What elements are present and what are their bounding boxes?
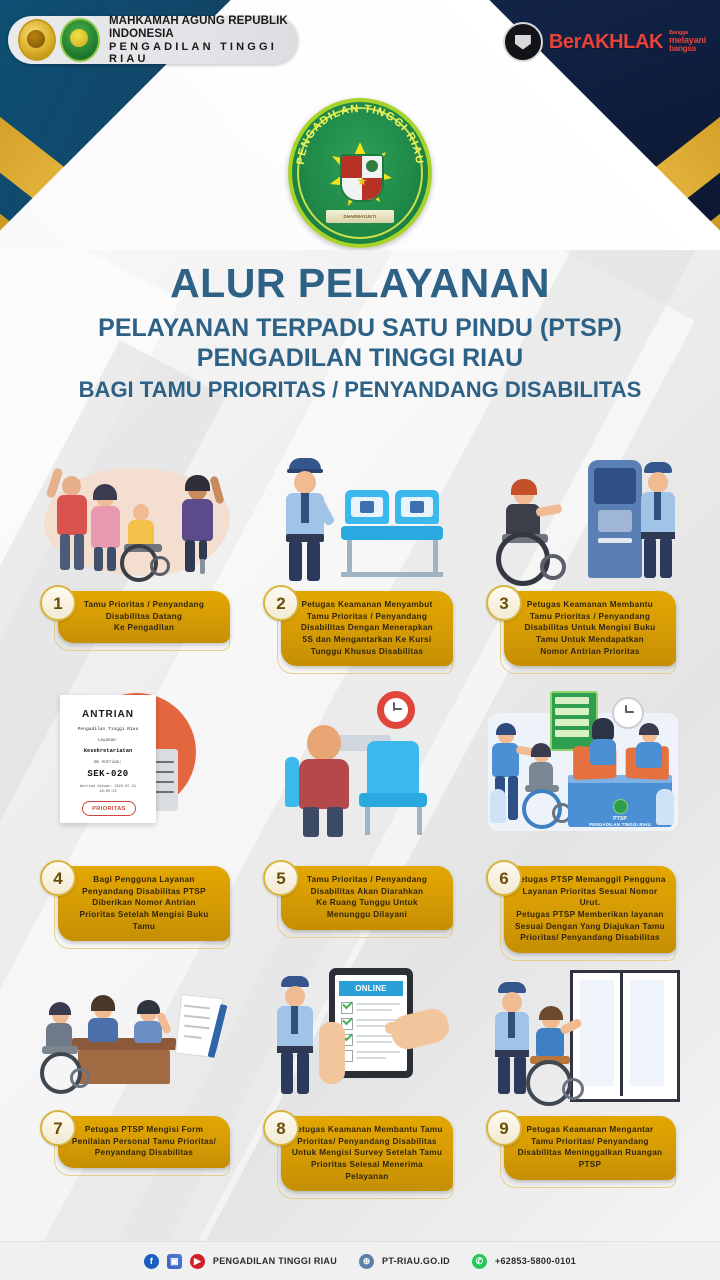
counter-emblem-icon [613,799,628,814]
step-card-5: 5 Tamu Prioritas / Penyandang Disabilita… [261,685,459,960]
step-7-illustration [38,960,236,1110]
bangga-melayani-bangsa-tagline: Bangga melayani bangsa [669,31,706,54]
ticket-created: Antrian dibuat: 2024-07-31 19:05:15 [60,785,156,796]
step-6-text: Petugas PTSP Memanggil Pengguna Layanan … [512,874,668,944]
step-1-text: Tamu Prioritas / Penyandang Disabilitas … [84,599,204,634]
step-4-illustration: ANTRIAN Pengadilan Tinggi Riau Layanan: … [38,685,236,860]
step-8-number: 8 [276,1120,285,1137]
step-1-illustration [38,440,236,585]
step-card-4: ANTRIAN Pengadilan Tinggi Riau Layanan: … [38,685,236,960]
social-handle: PENGADILAN TINGGI RIAU [213,1256,337,1266]
step-8-caption: 8 Petugas Keamanan Membantu Tamu Priorit… [267,1116,453,1191]
office-clock-icon [612,697,644,729]
step-8-text: Petugas Keamanan Membantu Tamu Prioritas… [291,1124,442,1182]
step-6-caption: 6 Petugas PTSP Memanggil Pengguna Layana… [490,866,676,953]
step-9-number: 9 [499,1120,508,1137]
step-card-6: PTSP PENGADILAN TINGGI RIAU [484,685,682,960]
website-url[interactable]: PT-RIAU.GO.ID [382,1256,450,1266]
instagram-icon[interactable]: ▣ [167,1254,182,1269]
steps-row-1: 1 Tamu Prioritas / Penyandang Disabilita… [0,440,720,685]
ticket-service-label: Layanan: [60,739,156,743]
step-5-text: Tamu Prioritas / Penyandang Disabilitas … [307,874,427,921]
step-5-illustration [261,685,459,860]
step-card-1: 1 Tamu Prioritas / Penyandang Disabilita… [38,440,236,685]
berakhlak-badge: BerAKHLAK Bangga melayani bangsa [503,22,706,62]
step-7-caption: 7 Petugas PTSP Mengisi Form Penilaian Pe… [44,1116,230,1168]
ticket-service-value: Kesekretariatan [60,748,156,754]
step-3-text: Petugas Keamanan Membantu Tamu Prioritas… [525,599,656,657]
emblem-shield-icon [340,154,384,202]
poster-header: MAHKAMAH AGUNG REPUBLIK INDONESIA PENGAD… [0,0,720,250]
title-sub-1: PELAYANAN TERPADU SATU PINDU (PTSP) [0,314,720,344]
step-card-3: 3 Petugas Keamanan Membantu Tamu Priorit… [484,440,682,685]
ticket-court: Pengadilan Tinggi Riau [60,727,156,732]
republic-emblem-icon [18,19,56,61]
poster-titles: ALUR PELAYANAN PELAYANAN TERPADU SATU PI… [0,262,720,403]
berakhlak-label: BerAKHLAK [549,31,663,54]
court-emblem: PENGADILAN TINGGI RIAU DHARMAYUKTI [288,98,432,248]
wall-clock-icon [377,691,415,729]
step-3-caption: 3 Petugas Keamanan Membantu Tamu Priorit… [490,591,676,666]
step-9-text: Petugas Keamanan Mengantar Tamu Priorita… [518,1124,663,1171]
ticket-title: ANTRIAN [60,709,156,720]
title-sub-2: PENGADILAN TINGGI RIAU [0,344,720,374]
youtube-icon[interactable]: ▶ [190,1254,205,1269]
title-sub-3: BAGI TAMU PRIORITAS / PENYANDANG DISABIL… [0,377,720,403]
poster-footer: f ▣ ▶ PENGADILAN TINGGI RIAU ⊕ PT-RIAU.G… [0,1241,720,1280]
step-5-number-badge: 5 [263,860,299,896]
step-3-number: 3 [499,595,508,612]
org-line-2: PENGADILAN TINGGI RIAU [109,41,288,66]
step-7-number-badge: 7 [40,1110,76,1146]
supreme-court-emblem-icon [60,18,100,62]
whatsapp-icon[interactable]: ✆ [472,1254,487,1269]
step-5-number: 5 [276,870,285,887]
org-line-1: MAHKAMAH AGUNG REPUBLIK INDONESIA [109,15,288,41]
step-card-9: 9 Petugas Keamanan Mengantar Tamu Priori… [484,960,682,1210]
steps-row-3: 7 Petugas PTSP Mengisi Form Penilaian Pe… [0,960,720,1210]
title-main: ALUR PELAYANAN [0,262,720,305]
step-4-number-badge: 4 [40,860,76,896]
step-9-illustration [484,960,682,1110]
step-2-number: 2 [276,595,285,612]
facebook-icon[interactable]: f [144,1254,159,1269]
infographic-poster: MAHKAMAH AGUNG REPUBLIK INDONESIA PENGAD… [0,0,720,1280]
step-6-number: 6 [499,870,508,887]
step-6-number-badge: 6 [486,860,522,896]
website-icon[interactable]: ⊕ [359,1254,374,1269]
step-card-2: 2 Petugas Keamanan Menyambut Tamu Priori… [261,440,459,685]
queue-ticket: ANTRIAN Pengadilan Tinggi Riau Layanan: … [60,695,156,823]
core-values-seal-icon [503,22,543,62]
phone-number[interactable]: +62853-5800-0101 [495,1256,576,1266]
ticket-priority-badge: PRIORITAS [82,801,136,816]
step-1-caption: 1 Tamu Prioritas / Penyandang Disabilita… [44,591,230,643]
institution-logo-bar: MAHKAMAH AGUNG REPUBLIK INDONESIA PENGAD… [8,16,298,64]
survey-header: ONLINE SURVEY [339,981,403,996]
step-8-illustration: ONLINE SURVEY [261,960,459,1110]
step-6-illustration: PTSP PENGADILAN TINGGI RIAU [484,685,682,860]
step-2-illustration [261,440,459,585]
step-card-8: ONLINE SURVEY [261,960,459,1210]
step-2-caption: 2 Petugas Keamanan Menyambut Tamu Priori… [267,591,453,666]
step-card-7: 7 Petugas PTSP Mengisi Form Penilaian Pe… [38,960,236,1210]
steps-grid: 1 Tamu Prioritas / Penyandang Disabilita… [0,440,720,1210]
emblem-scroll: DHARMAYUKTI [326,210,394,223]
step-2-number-badge: 2 [263,585,299,621]
step-1-number: 1 [53,595,62,612]
step-9-caption: 9 Petugas Keamanan Mengantar Tamu Priori… [490,1116,676,1180]
ticket-priority-text: PRIORITAS [92,806,126,812]
step-5-caption: 5 Tamu Prioritas / Penyandang Disabilita… [267,866,453,930]
step-3-number-badge: 3 [486,585,522,621]
emblem-scroll-text: DHARMAYUKTI [344,214,377,219]
step-8-number-badge: 8 [263,1110,299,1146]
step-7-text: Petugas PTSP Mengisi Form Penilaian Pers… [72,1124,216,1159]
step-3-illustration [484,440,682,585]
steps-row-2: ANTRIAN Pengadilan Tinggi Riau Layanan: … [0,685,720,960]
step-7-number: 7 [53,1120,62,1137]
step-4-text: Bagi Pengguna Layanan Penyandang Disabil… [79,874,208,932]
step-9-number-badge: 9 [486,1110,522,1146]
step-4-caption: 4 Bagi Pengguna Layanan Penyandang Disab… [44,866,230,941]
tagline-line-3: bangsa [669,45,706,53]
step-4-number: 4 [53,870,62,887]
step-2-text: Petugas Keamanan Menyambut Tamu Priorita… [301,599,433,657]
ticket-queue-label: No Antrian: [60,761,156,765]
ticket-queue-number: SEK-020 [60,769,156,779]
step-1-number-badge: 1 [40,585,76,621]
